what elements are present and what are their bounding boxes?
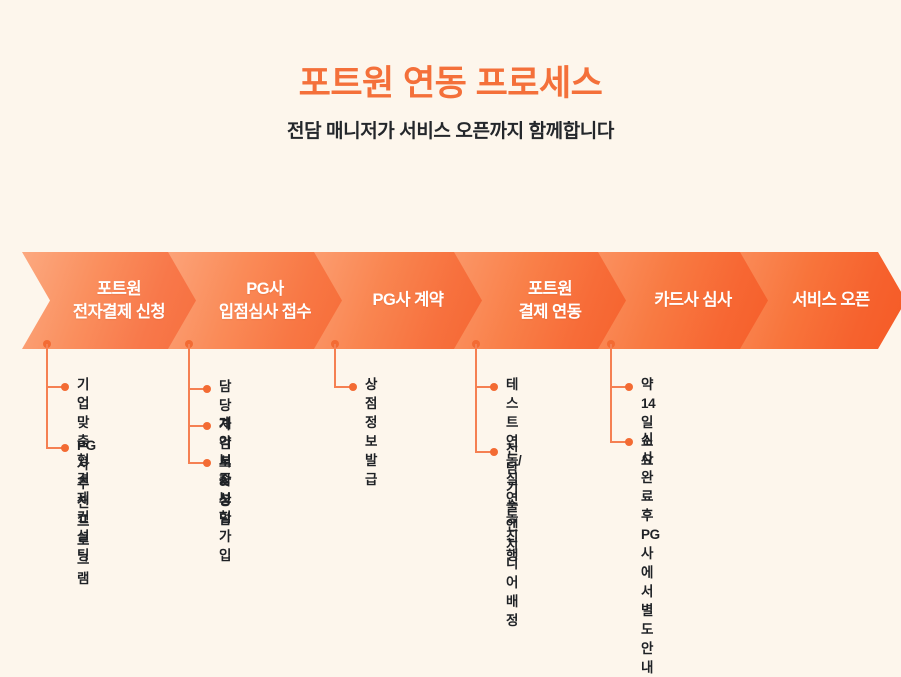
process-diagram-canvas: 포트원 연동 프로세스 전담 매니저가 서비스 오픈까지 함께합니다 포트원 전… bbox=[0, 0, 901, 601]
step-4-bullet-2-text: 전담 기술 엔지니어 배정 bbox=[506, 440, 518, 630]
process-step-1[interactable]: 포트원 전자결제 신청 bbox=[22, 252, 200, 349]
branch-dot bbox=[203, 422, 211, 430]
branch-dot bbox=[203, 385, 211, 393]
diagram-header: 포트원 연동 프로세스 전담 매니저가 서비스 오픈까지 함께합니다 bbox=[0, 0, 901, 145]
branch-dot bbox=[203, 459, 211, 467]
branch-dot bbox=[625, 438, 633, 446]
page-subtitle: 전담 매니저가 서비스 오픈까지 함께합니다 bbox=[0, 105, 901, 145]
step-5-branch-stem bbox=[610, 344, 612, 442]
step-5-bullet-2-text: 심사완료 후 PG사에서 별도 안내 bbox=[641, 430, 660, 677]
branch-dot bbox=[625, 383, 633, 391]
step-3-bullet-1-text: 상점 정보 발급 bbox=[365, 375, 377, 489]
process-step-4-label: 포트원 결제 연동 bbox=[503, 278, 582, 324]
process-step-1-label: 포트원 전자결제 신청 bbox=[57, 278, 165, 324]
branch-dot bbox=[349, 383, 357, 391]
step-1-bullet-2-text: PG사 추천 프로그램 bbox=[77, 436, 96, 588]
process-step-3-label: PG사 계약 bbox=[357, 289, 444, 312]
branch-dot bbox=[61, 444, 69, 452]
page-title: 포트원 연동 프로세스 bbox=[0, 0, 901, 105]
process-step-2-label: PG사 입점심사 접수 bbox=[203, 278, 311, 324]
process-step-6-label: 서비스 오픈 bbox=[776, 289, 869, 312]
process-step-band: 포트원 전자결제 신청 PG사 입점심사 접수 PG사 계약 포트원 결제 연동… bbox=[0, 252, 901, 349]
process-step-5-label: 카드사 심사 bbox=[638, 289, 731, 312]
branch-dot bbox=[61, 383, 69, 391]
step-1-branch-stem bbox=[46, 344, 48, 448]
step-2-branch-stem bbox=[188, 344, 190, 463]
branch-dot bbox=[490, 383, 498, 391]
step-3-branch-stem bbox=[334, 344, 336, 386]
step-2-bullet-3-text: 보증보험 가입 bbox=[219, 451, 231, 565]
branch-dot bbox=[490, 448, 498, 456]
step-4-branch-stem bbox=[475, 344, 477, 452]
